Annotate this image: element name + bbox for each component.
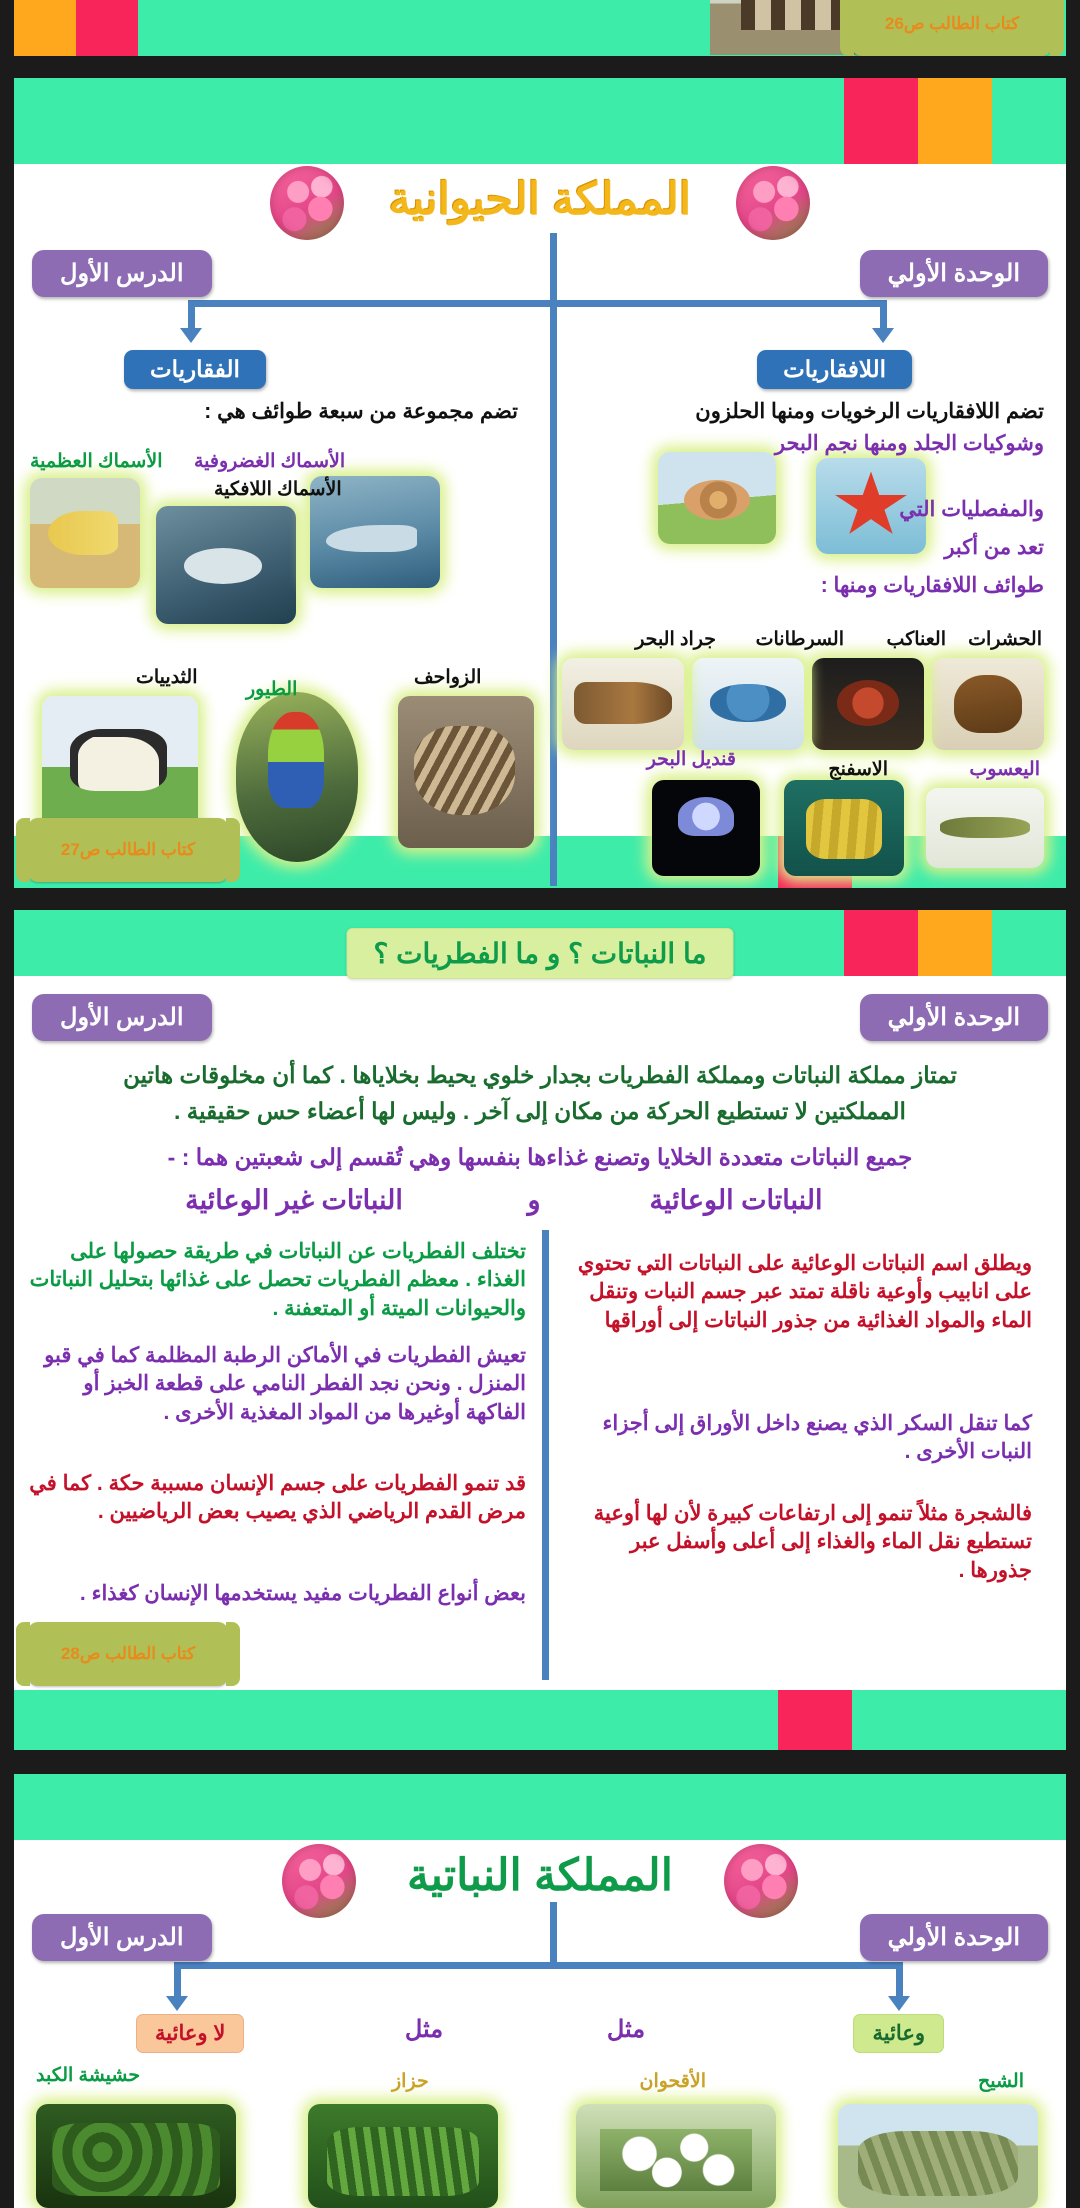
question-banner: ما النباتات ؟ و ما الفطريات ؟ (347, 928, 734, 979)
mint-strip-top (14, 78, 1066, 164)
orange-block (918, 78, 992, 164)
liverwort-photo (36, 2104, 236, 2208)
label-sponge: الاسفنج (828, 758, 888, 781)
unit-pill[interactable]: الوحدة الأولي (860, 250, 1048, 297)
label-daisy: الأقحوان (639, 2070, 706, 2093)
label-reptiles: الزواحف (414, 666, 481, 689)
cockroach-photo (932, 658, 1044, 750)
sage-photo (838, 2104, 1038, 2208)
connector-left-drop (174, 1962, 181, 2000)
invertebrates-intro-line-5: طوائف اللافقاريات ومنها : (624, 572, 1044, 600)
invertebrates-intro-line-2: وشوكيات الجلد ومنها نجم البحر (544, 430, 1044, 458)
connector-cross (188, 300, 884, 307)
vertebrates-intro: تضم مجموعة من سبعة طوائف هي : (28, 398, 518, 426)
connector-trunk (550, 233, 557, 301)
invertebrates-intro-line-1: تضم اللافقاريات الرخويات ومنها الحلزون (544, 398, 1044, 426)
jellyfish-photo (652, 780, 760, 876)
label-jellyfish: قنديل البحر (647, 748, 736, 771)
label-liverwort: حشيشة الكبد (36, 2064, 140, 2087)
bird-photo (236, 692, 358, 862)
mithl-right: مثل (566, 2014, 686, 2046)
bookmark-label: كتاب الطالب ص26 (885, 14, 1019, 34)
fungi-paragraph-2: تعيش الفطريات في الأماكن الرطبة المظلمة … (26, 1342, 526, 1427)
flower-decoration-right (724, 1844, 798, 1918)
fungi-paragraph-1: تختلف الفطريات عن النباتات في طريقة حصول… (26, 1238, 526, 1323)
label-crabs: السرطانات (756, 628, 844, 651)
infographic-page: كتاب الطالب ص26 المملكة الحيوانية الوحدة… (0, 0, 1080, 2208)
jawless-fish-photo (156, 506, 296, 624)
arrow-left (166, 1996, 188, 2011)
fungi-paragraph-3: قد تنمو الفطريات على جسم الإنسان مسببة ح… (26, 1470, 526, 1527)
fungi-intro-line-1: تمتاز مملكة النباتات ومملكة الفطريات بجد… (24, 1060, 1056, 1091)
label-lobster: جراد البحر (635, 628, 716, 651)
reptile-photo (398, 696, 534, 848)
snail-photo (658, 452, 776, 544)
arrow-right (872, 328, 894, 343)
col-head-vascular: النباتات الوعائية (526, 1182, 946, 1218)
lesson-pill[interactable]: الدرس الأول (32, 250, 212, 297)
flower-decoration-right (736, 166, 810, 240)
slide-plant-kingdom: المملكة النباتية الوحدة الأولي الدرس الأ… (14, 1774, 1066, 2208)
plants-divide-line: جميع النباتات متعددة الخلايا وتصنع غذاءه… (24, 1142, 1056, 1173)
orange-block (918, 910, 992, 976)
dragonfly-photo (926, 788, 1044, 868)
label-insects: الحشرات (968, 628, 1042, 651)
lesson-pill[interactable]: الدرس الأول (32, 994, 212, 1041)
connector-trunk (550, 1902, 557, 1964)
slide-gap-2 (0, 888, 1080, 910)
column-divider (542, 1230, 549, 1680)
slide-plants-fungi: ما النباتات ؟ و ما الفطريات ؟ الوحدة الأ… (14, 910, 1066, 1750)
slide-animal-kingdom: المملكة الحيوانية الوحدة الأولي الدرس ال… (14, 78, 1066, 888)
invertebrates-intro-line-4: تعد من أكبر (814, 534, 1044, 562)
crab-photo (692, 658, 804, 750)
spider-photo (812, 658, 924, 750)
bookmark-label: كتاب الطالب ص28 (61, 1644, 195, 1664)
connector-cross (174, 1962, 902, 1969)
connector-center-split (550, 306, 557, 886)
bookmark-ribbon-27: كتاب الطالب ص27 (28, 818, 228, 882)
fungi-intro-line-2: المملكتين لا تستطيع الحركة من مكان إلى آ… (24, 1096, 1056, 1127)
label-moss: حزاز (392, 2070, 429, 2093)
mithl-left: مثل (364, 2014, 484, 2046)
arrow-right (888, 1996, 910, 2011)
branch-heading-vertebrates: الفقاريات (124, 350, 266, 389)
slide-gap-1 (0, 56, 1080, 78)
label-bony-fish: الأسماك العظمية (30, 450, 162, 473)
label-sage: الشيح (978, 2070, 1024, 2093)
slide-title-plant: المملكة النباتية (14, 1850, 1066, 1901)
bony-fish-photo (30, 478, 140, 588)
orange-block (14, 0, 76, 56)
col-head-nonvascular: النباتات غير الوعائية (84, 1182, 504, 1218)
sponge-photo (784, 780, 904, 876)
category-nonvascular: لا وعائية (136, 2014, 244, 2053)
slide-gap-3 (0, 1750, 1080, 1774)
slide-title-animal: المملكة الحيوانية (14, 174, 1066, 225)
label-mammals: الثدييات (136, 666, 197, 689)
label-arachnids: العناكب (887, 628, 946, 651)
daisy-photo (576, 2104, 776, 2208)
vascular-paragraph-3: فالشجرة مثلاً تنمو إلى ارتفاعات كبيرة لأ… (564, 1500, 1032, 1585)
slide-top-partial: كتاب الطالب ص26 (14, 0, 1066, 56)
category-vascular: وعائية (853, 2014, 944, 2053)
unit-pill[interactable]: الوحدة الأولي (860, 1914, 1048, 1961)
fungi-paragraph-4: بعض أنواع الفطريات مفيد يستخدمها الإنسان… (26, 1580, 526, 1608)
unit-pill[interactable]: الوحدة الأولي (860, 994, 1048, 1041)
mint-strip-top (14, 1774, 1066, 1840)
mint-strip-bottom (14, 1690, 1066, 1750)
bookmark-ribbon-28: كتاب الطالب ص28 (28, 1622, 228, 1686)
branch-heading-invertebrates: اللافقاريات (757, 350, 912, 389)
vascular-paragraph-1: ويطلق اسم النباتات الوعائية على النباتات… (564, 1250, 1032, 1335)
arrow-left (180, 328, 202, 343)
moss-photo (308, 2104, 498, 2208)
bookmark-label: كتاب الطالب ص27 (61, 840, 195, 860)
label-birds: الطيور (246, 678, 297, 701)
pink-block (844, 910, 918, 976)
lobster-photo (562, 658, 684, 750)
pink-block (844, 78, 918, 164)
pink-block (76, 0, 138, 56)
pink-block-bottom (778, 1690, 852, 1750)
bookmark-ribbon-26: كتاب الطالب ص26 (852, 0, 1052, 56)
connector-right-drop (896, 1962, 903, 2000)
invertebrates-intro-line-3: والمفصليات التي (814, 496, 1044, 524)
flower-decoration-left (270, 166, 344, 240)
flower-decoration-left (282, 1844, 356, 1918)
label-jawless-fish: الأسماك اللافكية (214, 478, 342, 501)
label-dragonfly: اليعسوب (969, 758, 1040, 781)
vascular-paragraph-2: كما تنقل السكر الذي يصنع داخل الأوراق إل… (564, 1410, 1032, 1467)
lesson-pill[interactable]: الدرس الأول (32, 1914, 212, 1961)
label-cartilaginous-fish: الأسماك الغضروفية (194, 450, 345, 473)
